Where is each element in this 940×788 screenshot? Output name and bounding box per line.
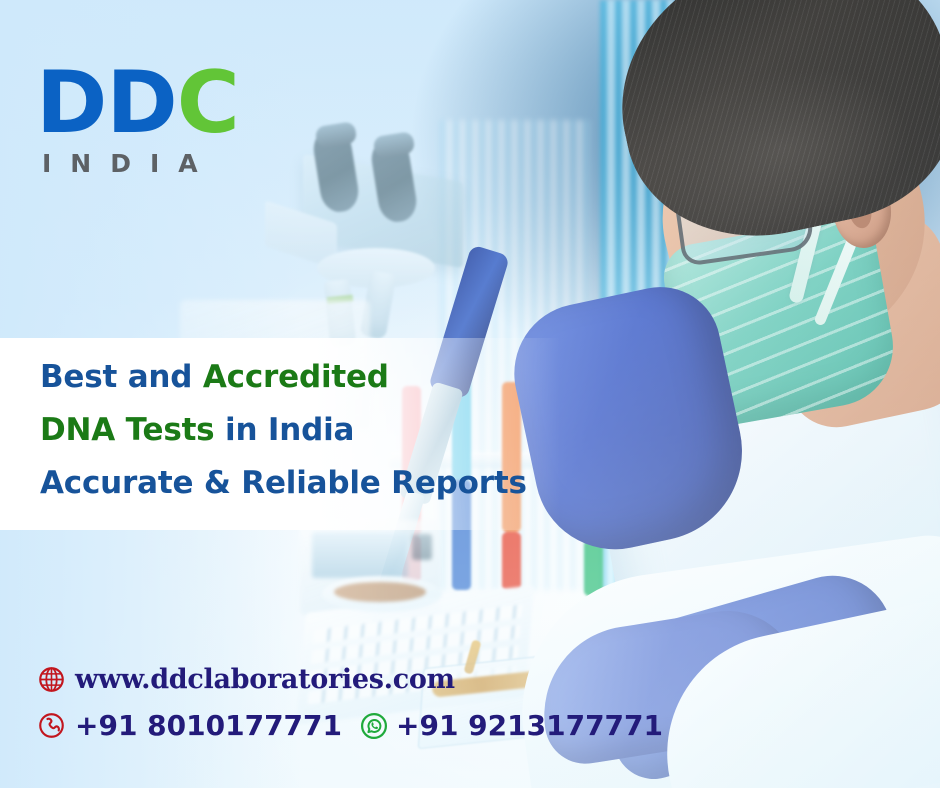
logo-subtitle: INDIA [42, 149, 239, 178]
whatsapp-number[interactable]: +91 9213177771 [396, 709, 663, 742]
logo-letters-dd: DD [36, 53, 177, 153]
globe-icon [38, 666, 65, 693]
phone-icon [38, 712, 65, 739]
headline-segment-1-1: Best and [40, 359, 203, 395]
whatsapp-icon [360, 712, 388, 740]
logo-letter-c: C [177, 53, 239, 153]
ddc-india-logo[interactable]: DDC INDIA [36, 62, 239, 178]
headline-segment-3-1: Accurate & Reliable Reports [40, 465, 527, 501]
headline-segment-2-2: in India [225, 412, 354, 448]
website-row[interactable]: www.ddclaboratories.com [38, 664, 658, 695]
logo-wordmark: DDC [36, 62, 239, 145]
phone-row: +91 8010177771 +91 9213177771 [38, 709, 658, 742]
headline-line-3: Accurate & Reliable Reports [40, 468, 560, 499]
contact-info: www.ddclaboratories.com +91 8010177771 +… [38, 664, 658, 742]
headline-segment-2-1: DNA Tests [40, 412, 225, 448]
ddc-india-promo-banner: DDC INDIA Best and AccreditedDNA Tests i… [0, 0, 940, 788]
headline-text: Best and AccreditedDNA Tests in IndiaAcc… [40, 362, 560, 499]
headline-segment-1-2: Accredited [203, 359, 389, 395]
headline-line-1: Best and Accredited [40, 362, 560, 393]
website-url[interactable]: www.ddclaboratories.com [75, 664, 455, 695]
phone-number[interactable]: +91 8010177771 [75, 709, 342, 742]
headline-line-2: DNA Tests in India [40, 415, 560, 446]
petri-dish-medium [334, 582, 426, 602]
